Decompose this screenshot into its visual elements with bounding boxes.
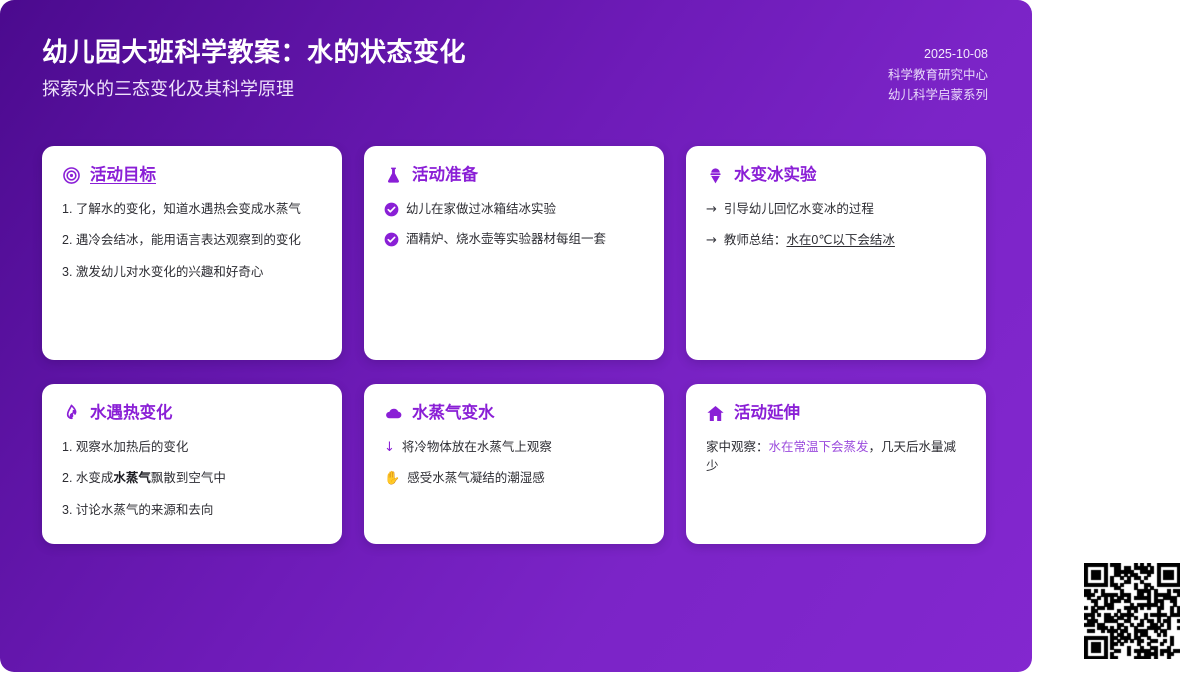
flame-icon bbox=[62, 404, 81, 423]
card-body: 幼儿在家做过冰箱结冰实验 酒精炉、烧水壶等实验器材每组一套 bbox=[384, 200, 644, 250]
card-header: 水变冰实验 bbox=[706, 166, 966, 185]
list-item: 幼儿在家做过冰箱结冰实验 bbox=[384, 200, 644, 219]
card-title: 水蒸气变水 bbox=[412, 405, 495, 422]
list-item: 3. 激发幼儿对水变化的兴趣和好奇心 bbox=[62, 263, 322, 282]
list-item: 家中观察：水在常温下会蒸发，几天后水量减少 bbox=[706, 438, 966, 477]
list-item-text: 感受水蒸气凝结的潮湿感 bbox=[407, 469, 644, 488]
check-circle-icon bbox=[384, 232, 399, 247]
flask-icon bbox=[384, 166, 403, 185]
header-meta: 2025-10-08 科学教育研究中心 幼儿科学启蒙系列 bbox=[888, 44, 988, 106]
card-body: ↓ 将冷物体放在水蒸气上观察 ✋ 感受水蒸气凝结的潮湿感 bbox=[384, 438, 644, 489]
slide-stage: 幼儿园大班科学教案：水的状态变化 探索水的三态变化及其科学原理 2025-10-… bbox=[0, 0, 1200, 675]
list-item-text: 教师总结：水在0℃以下会结冰 bbox=[724, 231, 966, 250]
list-item: 2. 遇冷会结冰，能用语言表达观察到的变化 bbox=[62, 231, 322, 250]
card-header: 水蒸气变水 bbox=[384, 404, 644, 423]
card-title: 水遇热变化 bbox=[90, 405, 173, 422]
list-item: 3. 讨论水蒸气的来源和去向 bbox=[62, 501, 322, 520]
list-item: 1. 观察水加热后的变化 bbox=[62, 438, 322, 457]
card-title: 活动准备 bbox=[412, 167, 478, 184]
list-item-text: 引导幼儿回忆水变冰的过程 bbox=[724, 200, 966, 219]
list-item-highlight: 水在常温下会蒸发 bbox=[769, 440, 869, 454]
arrow-right-icon: → bbox=[706, 200, 717, 220]
list-item-underlined: 水在0℃以下会结冰 bbox=[786, 233, 895, 247]
card-preparation[interactable]: 活动准备 幼儿在家做过冰箱结冰实验 bbox=[364, 146, 664, 360]
list-item-tail: 飘散到空气中 bbox=[151, 471, 226, 485]
card-vapor-to-water[interactable]: 水蒸气变水 ↓ 将冷物体放在水蒸气上观察 ✋ 感受水蒸气凝结的潮湿感 bbox=[364, 384, 664, 544]
arrow-right-icon: → bbox=[706, 231, 717, 251]
list-item: ✋ 感受水蒸气凝结的潮湿感 bbox=[384, 469, 644, 489]
card-body: 1. 观察水加热后的变化 2. 水变成水蒸气飘散到空气中 3. 讨论水蒸气的来源… bbox=[62, 438, 322, 520]
list-item-lead: 教师总结： bbox=[724, 233, 787, 247]
meta-series: 幼儿科学启蒙系列 bbox=[888, 85, 988, 106]
header: 幼儿园大班科学教案：水的状态变化 探索水的三态变化及其科学原理 2025-10-… bbox=[42, 36, 988, 126]
card-title: 水变冰实验 bbox=[734, 167, 817, 184]
list-item: 1. 了解水的变化，知道水遇热会变成水蒸气 bbox=[62, 200, 322, 219]
card-water-heated[interactable]: 水遇热变化 1. 观察水加热后的变化 2. 水变成水蒸气飘散到空气中 3. 讨论… bbox=[42, 384, 342, 544]
page-title: 幼儿园大班科学教案：水的状态变化 bbox=[42, 36, 988, 69]
card-extension[interactable]: 活动延伸 家中观察：水在常温下会蒸发，几天后水量减少 bbox=[686, 384, 986, 544]
card-objectives[interactable]: 活动目标 1. 了解水的变化，知道水遇热会变成水蒸气 2. 遇冷会结冰，能用语言… bbox=[42, 146, 342, 360]
card-grid: 活动目标 1. 了解水的变化，知道水遇热会变成水蒸气 2. 遇冷会结冰，能用语言… bbox=[42, 146, 990, 544]
card-body: 1. 了解水的变化，知道水遇热会变成水蒸气 2. 遇冷会结冰，能用语言表达观察到… bbox=[62, 200, 322, 282]
list-item-lead: 家中观察： bbox=[706, 440, 769, 454]
card-header: 活动准备 bbox=[384, 166, 644, 185]
meta-org: 科学教育研究中心 bbox=[888, 65, 988, 86]
content-panel: 幼儿园大班科学教案：水的状态变化 探索水的三态变化及其科学原理 2025-10-… bbox=[0, 0, 1032, 672]
cloud-icon bbox=[384, 404, 403, 423]
list-item: 酒精炉、烧水壶等实验器材每组一套 bbox=[384, 230, 644, 249]
list-item: 2. 水变成水蒸气飘散到空气中 bbox=[62, 469, 322, 488]
list-item: ↓ 将冷物体放在水蒸气上观察 bbox=[384, 438, 644, 458]
list-item-text: 幼儿在家做过冰箱结冰实验 bbox=[406, 200, 644, 219]
card-water-to-ice[interactable]: 水变冰实验 → 引导幼儿回忆水变冰的过程 → 教师总结：水在0℃以下会结冰 bbox=[686, 146, 986, 360]
list-item: → 教师总结：水在0℃以下会结冰 bbox=[706, 231, 966, 251]
list-item-text: 将冷物体放在水蒸气上观察 bbox=[402, 438, 644, 457]
list-item-lead: 2. 水变成 bbox=[62, 471, 113, 485]
card-title: 活动目标 bbox=[90, 167, 156, 184]
card-header: 活动延伸 bbox=[706, 404, 966, 423]
card-header: 水遇热变化 bbox=[62, 404, 322, 423]
check-circle-icon bbox=[384, 202, 399, 217]
home-icon bbox=[706, 404, 725, 423]
card-body: → 引导幼儿回忆水变冰的过程 → 教师总结：水在0℃以下会结冰 bbox=[706, 200, 966, 251]
list-item-bold: 水蒸气 bbox=[113, 471, 151, 485]
card-body: 家中观察：水在常温下会蒸发，几天后水量减少 bbox=[706, 438, 966, 477]
card-title: 活动延伸 bbox=[734, 405, 800, 422]
list-item: → 引导幼儿回忆水变冰的过程 bbox=[706, 200, 966, 220]
hand-icon: ✋ bbox=[384, 469, 400, 489]
arrow-down-icon: ↓ bbox=[384, 438, 395, 458]
ice-cream-icon bbox=[706, 166, 725, 185]
meta-date: 2025-10-08 bbox=[888, 44, 988, 65]
card-header: 活动目标 bbox=[62, 166, 322, 185]
page-subtitle: 探索水的三态变化及其科学原理 bbox=[42, 79, 988, 101]
qr-code[interactable] bbox=[1084, 563, 1180, 659]
target-icon bbox=[62, 166, 81, 185]
list-item-text: 酒精炉、烧水壶等实验器材每组一套 bbox=[406, 230, 644, 249]
